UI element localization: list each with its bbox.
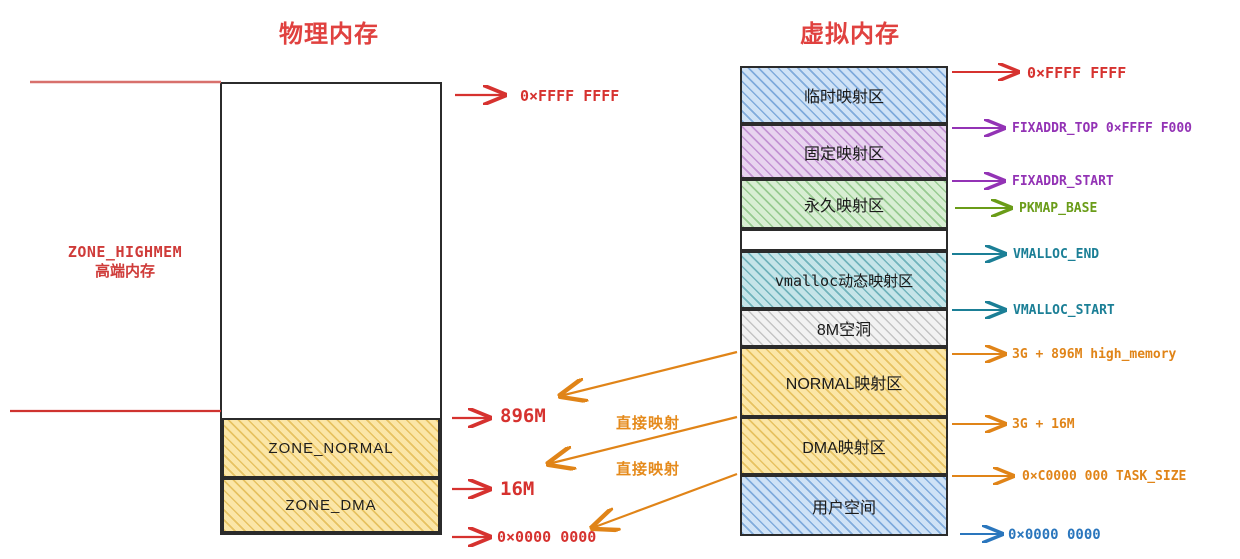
virtual-block-label: 8M空洞 xyxy=(817,316,871,340)
virtual-marker-pkmap-base: PKMAP_BASE xyxy=(1019,201,1097,216)
virtual-marker-vmalloc-start: VMALLOC_START xyxy=(1013,303,1115,318)
virtual-marker-fixaddr-top: FIXADDR_TOP 0×FFFF F000 xyxy=(1012,121,1192,136)
virtual-block-gap xyxy=(740,229,948,251)
virtual-block-vmalloc-mapping: vmalloc动态映射区 xyxy=(740,251,948,309)
physical-marker-arrows xyxy=(452,95,505,537)
virtual-block-dma-mapping: DMA映射区 xyxy=(740,417,948,475)
direct-mapping-arrows xyxy=(548,352,737,528)
virtual-marker-vmalloc-end: VMALLOC_END xyxy=(1013,247,1099,262)
virtual-block-label: NORMAL映射区 xyxy=(786,370,902,394)
zone-normal-block: ZONE_NORMAL xyxy=(222,418,440,478)
virtual-block-permanent-mapping: 永久映射区 xyxy=(740,179,948,229)
virtual-block-label: 固定映射区 xyxy=(804,140,884,164)
physical-marker-zero: 0×0000 0000 xyxy=(497,528,596,546)
direct-mapping-label-dma: 直接映射 xyxy=(616,458,680,479)
virtual-marker-ffff-ffff: 0×FFFF FFFF xyxy=(1027,64,1126,82)
virtual-block-label: 永久映射区 xyxy=(804,192,884,216)
physical-marker-16m: 16M xyxy=(500,478,534,500)
virtual-marker-arrows xyxy=(952,72,1018,534)
zone-highmem-label-cn: 高端内存 xyxy=(55,262,195,282)
virtual-marker-fixaddr-start: FIXADDR_START xyxy=(1012,174,1114,189)
virtual-block-label: vmalloc动态映射区 xyxy=(775,270,913,291)
virtual-marker-zero: 0×0000 0000 xyxy=(1008,527,1101,543)
physical-memory-title: 物理内存 xyxy=(279,14,379,49)
physical-marker-top: 0×FFFF FFFF xyxy=(520,87,619,105)
virtual-block-label: 用户空间 xyxy=(812,494,876,518)
virtual-block-8m-hole: 8M空洞 xyxy=(740,309,948,347)
zone-highmem-label-en: ZONE_HIGHMEM xyxy=(55,242,195,262)
diagram-canvas: 物理内存 虚拟内存 ZONE_NORMAL ZONE_DMA ZONE_HIGH… xyxy=(0,0,1240,559)
virtual-memory-title: 虚拟内存 xyxy=(800,14,900,49)
zone-normal-label: ZONE_NORMAL xyxy=(268,440,393,457)
virtual-block-user-space: 用户空间 xyxy=(740,475,948,536)
virtual-marker-task-size: 0×C0000 000 TASK_SIZE xyxy=(1022,469,1186,484)
zone-highmem-caption: ZONE_HIGHMEM 高端内存 xyxy=(55,242,195,283)
virtual-marker-3g-16m: 3G + 16M xyxy=(1012,417,1075,432)
zone-dma-label: ZONE_DMA xyxy=(285,497,376,514)
zone-dma-block: ZONE_DMA xyxy=(222,478,440,533)
virtual-block-fixed-mapping: 固定映射区 xyxy=(740,124,948,179)
direct-mapping-label-normal: 直接映射 xyxy=(616,412,680,433)
virtual-block-label: 临时映射区 xyxy=(804,83,884,107)
virtual-block-normal-mapping: NORMAL映射区 xyxy=(740,347,948,417)
virtual-marker-high-memory: 3G + 896M high_memory xyxy=(1012,347,1176,362)
physical-marker-896m: 896M xyxy=(500,405,546,427)
virtual-block-label: DMA映射区 xyxy=(802,434,886,458)
virtual-block-temporary-mapping: 临时映射区 xyxy=(740,66,948,124)
